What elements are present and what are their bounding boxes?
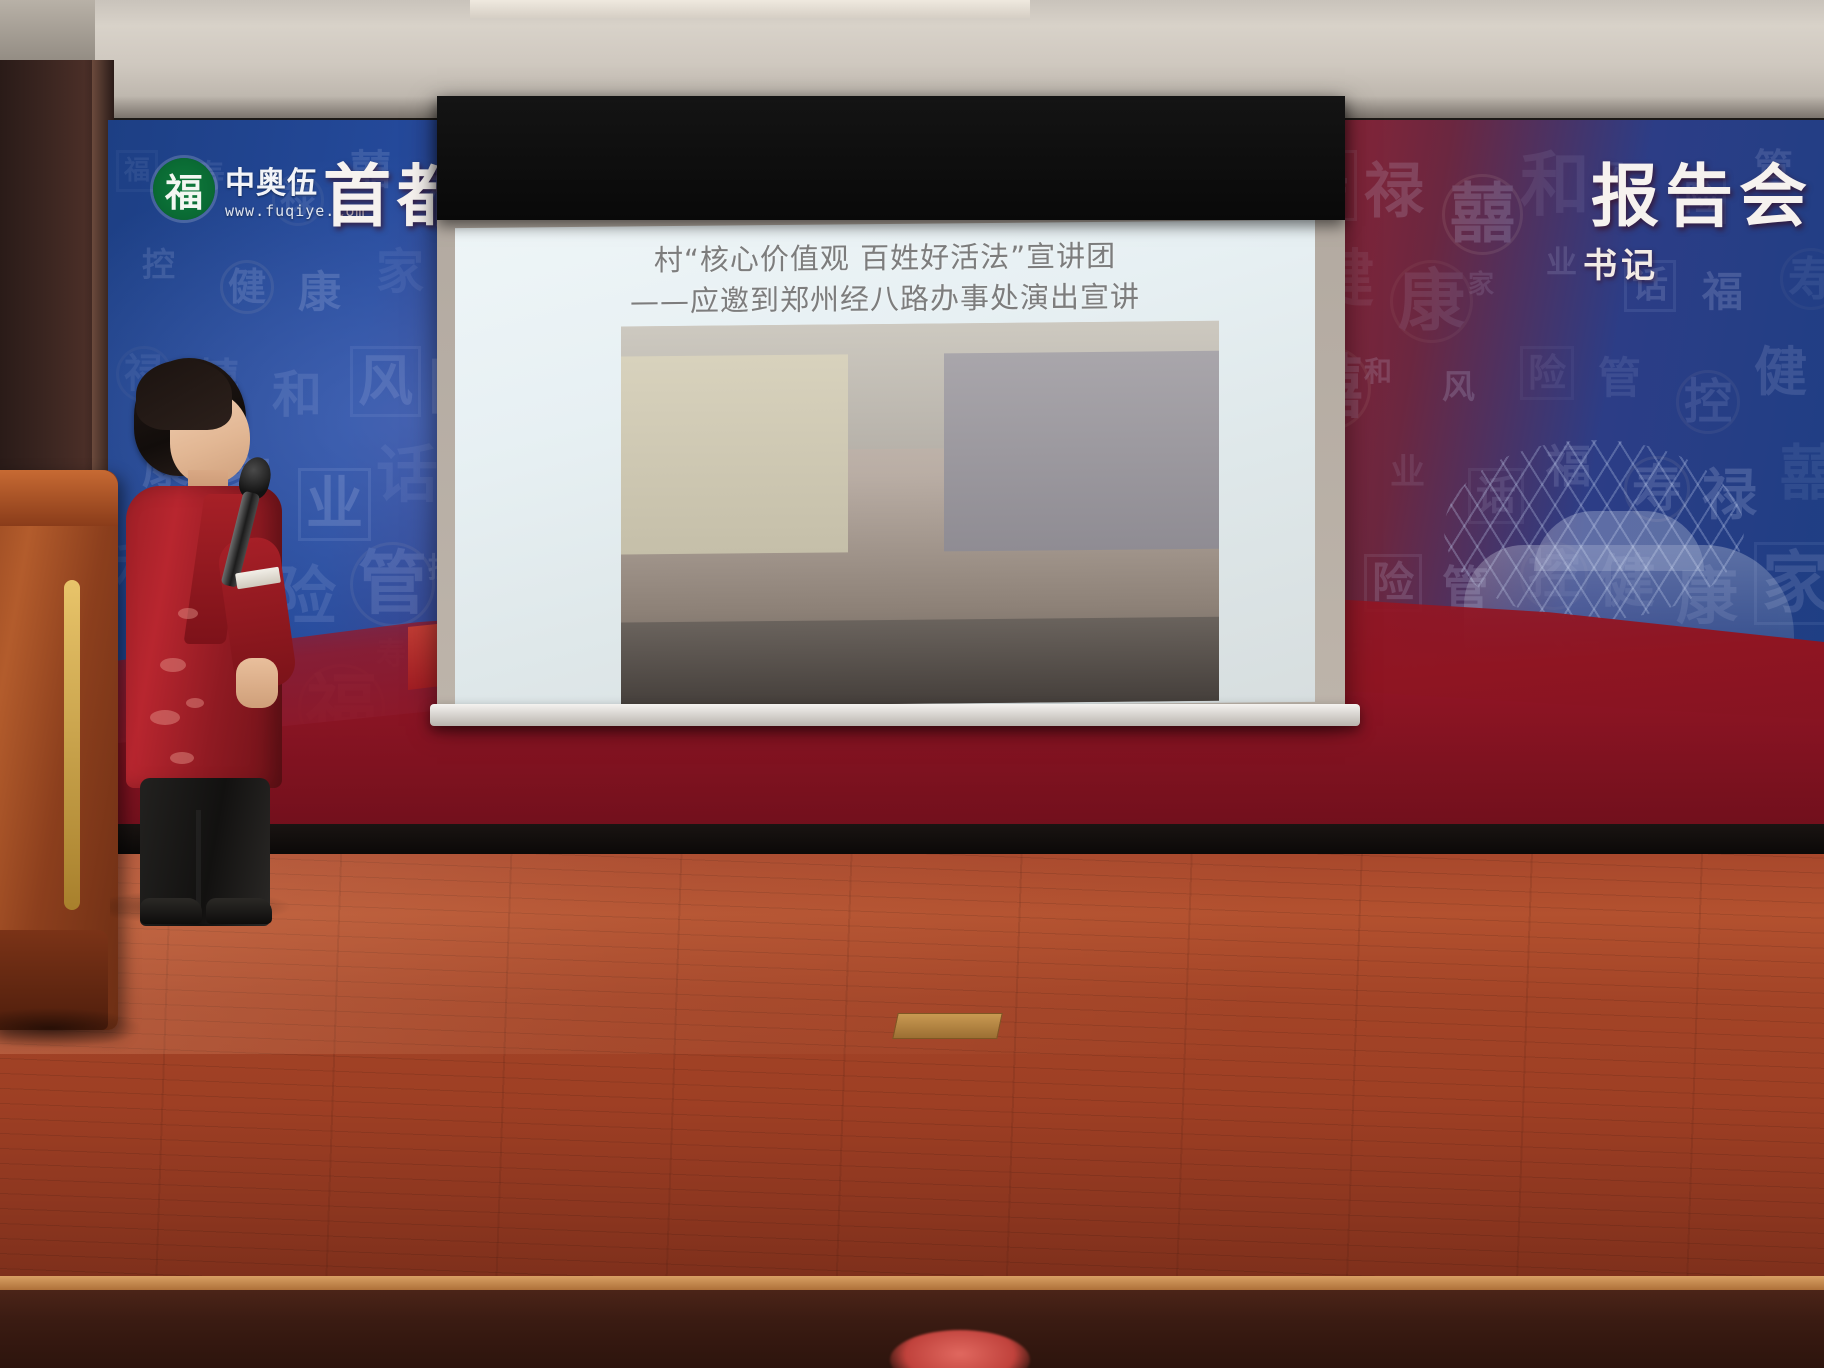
photo-wall-right — [944, 351, 1219, 551]
conference-hall-scene: 福寿禄囍和风险管控健康家业话福寿禄囍和风险管控健康家业话福寿禄囍和风险管控健康家… — [0, 0, 1824, 1368]
watermark-glyph: 业 — [1546, 248, 1577, 279]
watermark-glyph: 和 — [1364, 358, 1392, 386]
watermark-glyph: 家 — [1468, 272, 1494, 298]
slide-title-line-2: ——应邀到郑州经八路办事处演出宣讲 — [455, 275, 1315, 324]
watermark-glyph: 健 — [220, 260, 274, 314]
watermark-glyph: 康 — [1390, 260, 1473, 343]
fu-logo-icon: 福 — [153, 158, 215, 220]
podium-gold-trim — [64, 580, 80, 910]
speaker-hair-front — [136, 360, 232, 430]
watermark-glyph: 险 — [1520, 346, 1574, 400]
watermark-glyph: 管 — [1598, 358, 1641, 401]
podium-top-surface — [0, 470, 118, 526]
watermark-glyph: 风 — [1442, 370, 1475, 403]
presentation-slide: 村“核心价值观 百姓好活法”宣讲团 ——应邀到郑州经八路办事处演出宣讲 — [455, 220, 1315, 710]
watermark-glyph: 寿 — [1780, 248, 1824, 310]
watermark-glyph: 风 — [350, 346, 421, 417]
banner-subtitle: 书记 — [1583, 238, 1659, 287]
watermark-glyph: 福 — [116, 150, 158, 192]
slide-title-line-1: 村“核心价值观 百姓好活法”宣讲团 — [654, 239, 1116, 277]
speaker-person — [126, 358, 306, 918]
watermark-glyph: 控 — [1676, 370, 1740, 434]
slide-title: 村“核心价值观 百姓好活法”宣讲团 ——应邀到郑州经八路办事处演出宣讲 — [455, 234, 1315, 325]
watermark-glyph: 福 — [1702, 272, 1743, 313]
watermark-glyph: 健 — [1754, 346, 1807, 399]
photo-floor — [621, 617, 1219, 706]
watermark-glyph: 康 — [298, 272, 341, 315]
projection-screen-bottom-bar — [430, 704, 1360, 726]
speaker-shoe-right — [206, 898, 272, 924]
projection-screen-case — [437, 96, 1345, 220]
watermark-glyph: 囍 — [1780, 444, 1824, 504]
slide-photo — [621, 321, 1219, 707]
speaker-hand — [236, 658, 278, 708]
floor-inlay-plate — [892, 1013, 1003, 1039]
photo-wall-left — [621, 355, 848, 555]
ceiling-panel — [470, 0, 1030, 18]
banner-headline-right: 报告会 — [1591, 141, 1813, 240]
watermark-glyph: 业 — [1390, 456, 1425, 491]
podium-shadow — [0, 1008, 140, 1048]
speaker-shoe-left — [140, 898, 202, 924]
watermark-glyph: 控 — [142, 248, 175, 281]
watermark-glyph: 家 — [376, 248, 424, 296]
